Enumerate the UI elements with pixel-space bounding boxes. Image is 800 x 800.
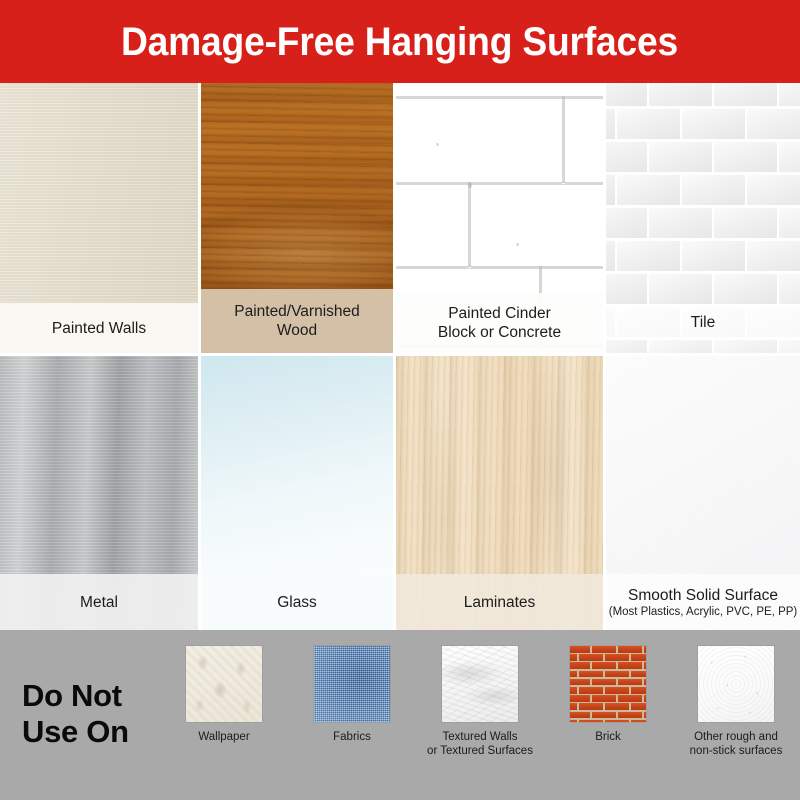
surface-tile-tile[interactable]: Tile (606, 83, 800, 353)
textured-walls-thumbnail (441, 645, 519, 723)
do-not-use-item-other-rough[interactable]: Other rough and non-stick surfaces (677, 645, 795, 758)
page-title: Damage-Free Hanging Surfaces (121, 22, 678, 62)
surface-label-metal: Metal (0, 574, 198, 630)
surface-tile-smooth-solid-surface[interactable]: Smooth Solid Surface (Most Plastics, Acr… (606, 356, 800, 630)
do-not-use-item-textured-walls[interactable]: Textured Walls or Textured Surfaces (421, 645, 539, 758)
do-not-use-label-textured-walls: Textured Walls or Textured Surfaces (427, 730, 533, 758)
label-line-1: Smooth Solid Surface (628, 586, 778, 605)
heading-line-1: Do Not (22, 678, 162, 714)
label-line-1: Textured Walls (443, 731, 518, 743)
textured-wall-texture (442, 646, 518, 722)
label-line-2: Block or Concrete (438, 323, 561, 342)
label-line-2: non-stick surfaces (690, 745, 783, 757)
label-sublabel: (Most Plastics, Acrylic, PVC, PE, PP) (609, 605, 798, 619)
surface-tile-painted-varnished-wood[interactable]: Painted/Varnished Wood (201, 83, 393, 353)
surface-label-smooth-solid-surface: Smooth Solid Surface (Most Plastics, Acr… (606, 574, 800, 630)
surface-tile-metal[interactable]: Metal (0, 356, 198, 630)
surface-label-tile: Tile (606, 305, 800, 339)
header-banner: Damage-Free Hanging Surfaces (0, 0, 800, 83)
do-not-use-label-wallpaper: Wallpaper (198, 730, 249, 744)
surface-label-laminates: Laminates (396, 574, 603, 630)
do-not-use-label-fabrics: Fabrics (333, 730, 371, 744)
surface-label-glass: Glass (201, 574, 393, 630)
infographic-page: Damage-Free Hanging Surfaces Painted Wal… (0, 0, 800, 800)
do-not-use-on-section: Do Not Use On Wallpaper Fabrics (0, 630, 800, 800)
surface-tile-painted-cinder-block[interactable]: Painted Cinder Block or Concrete (396, 83, 603, 353)
surface-tile-laminates[interactable]: Laminates (396, 356, 603, 630)
label-line-2: Wood (277, 321, 317, 340)
other-rough-thumbnail (697, 645, 775, 723)
label-line-2: or Textured Surfaces (427, 745, 533, 757)
surface-label-painted-varnished-wood: Painted/Varnished Wood (201, 289, 393, 353)
red-brick-texture (570, 646, 646, 722)
fabrics-thumbnail (313, 645, 391, 723)
do-not-use-item-wallpaper[interactable]: Wallpaper (165, 645, 283, 744)
label-line-1: Painted/Varnished (234, 302, 360, 321)
brick-thumbnail (569, 645, 647, 723)
do-not-use-on-items: Wallpaper Fabrics Textured Walls or Text… (160, 630, 800, 800)
do-not-use-label-brick: Brick (595, 730, 621, 744)
do-not-use-on-heading: Do Not Use On (22, 678, 162, 750)
surface-tile-painted-walls[interactable]: Painted Walls (0, 83, 198, 353)
surface-tile-glass[interactable]: Glass (201, 356, 393, 630)
heading-line-2: Use On (22, 714, 162, 750)
do-not-use-label-other-rough: Other rough and non-stick surfaces (690, 730, 783, 758)
surface-label-painted-walls: Painted Walls (0, 303, 198, 353)
do-not-use-item-brick[interactable]: Brick (549, 645, 667, 744)
blue-fabric-texture (314, 646, 390, 722)
label-line-1: Other rough and (694, 731, 778, 743)
wallpaper-damask-texture (186, 646, 262, 722)
label-line-1: Painted Cinder (448, 304, 551, 323)
rough-stipple-texture (698, 646, 774, 722)
do-not-use-item-fabrics[interactable]: Fabrics (293, 645, 411, 744)
wallpaper-thumbnail (185, 645, 263, 723)
surface-label-painted-cinder-block: Painted Cinder Block or Concrete (396, 293, 603, 353)
surfaces-grid: Painted Walls Painted/Varnished Wood (0, 83, 800, 630)
